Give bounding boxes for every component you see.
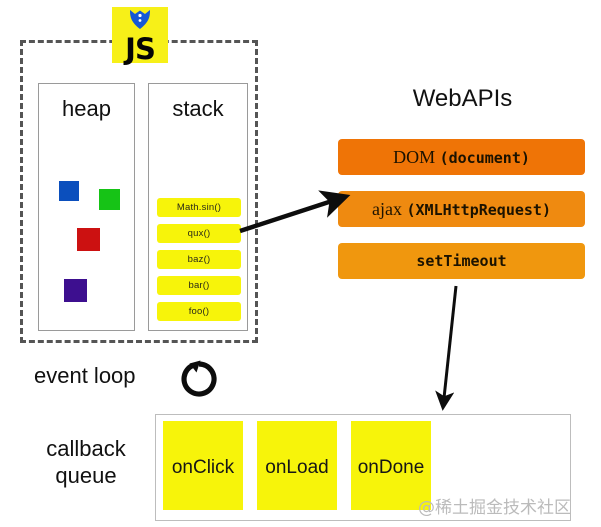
webapi-ajax-label: ajax <box>372 199 406 219</box>
callback-queue-label: callback queue <box>22 435 150 489</box>
callback-queue-item: onClick <box>163 421 243 510</box>
event-loop-label: event loop <box>34 363 136 389</box>
stack-frame: foo() <box>157 302 241 321</box>
stack-frame: baz() <box>157 250 241 269</box>
stack-title: stack <box>149 96 247 122</box>
callback-queue-item: onLoad <box>257 421 337 510</box>
arrow-webapis-to-queue <box>444 286 456 398</box>
js-shield-badge-icon <box>129 8 151 34</box>
webapi-ajax: ajax (XMLHttpRequest) <box>338 191 585 227</box>
heap-panel: heap <box>38 83 135 331</box>
webapi-dom: DOM (document) <box>338 139 585 175</box>
webapis-title: WebAPIs <box>340 85 585 113</box>
heap-object-purple <box>64 279 87 302</box>
callback-queue-label-line2: queue <box>22 462 150 489</box>
stack-panel: stack Math.sin() qux() baz() bar() foo() <box>148 83 248 331</box>
heap-object-green <box>99 189 120 210</box>
heap-title: heap <box>39 96 134 122</box>
circular-arrow-icon <box>178 358 220 400</box>
webapi-ajax-detail: (XMLHttpRequest) <box>406 201 551 219</box>
webapi-dom-label: DOM <box>393 147 440 167</box>
webapi-settimeout-label: setTimeout <box>416 252 506 270</box>
stack-frame: Math.sin() <box>157 198 241 217</box>
stack-frame: qux() <box>157 224 241 243</box>
webapi-settimeout: setTimeout <box>338 243 585 279</box>
callback-queue-label-line1: callback <box>22 435 150 462</box>
event-loop-diagram: heap stack Math.sin() qux() baz() bar() … <box>0 0 601 527</box>
stack-frame: bar() <box>157 276 241 295</box>
javascript-logo: JS <box>112 7 168 63</box>
webapi-dom-detail: (document) <box>440 149 530 167</box>
heap-object-blue <box>59 181 79 201</box>
javascript-logo-text: JS <box>112 34 168 64</box>
watermark: @稀土掘金技术社区 <box>418 493 571 518</box>
heap-object-red <box>77 228 100 251</box>
